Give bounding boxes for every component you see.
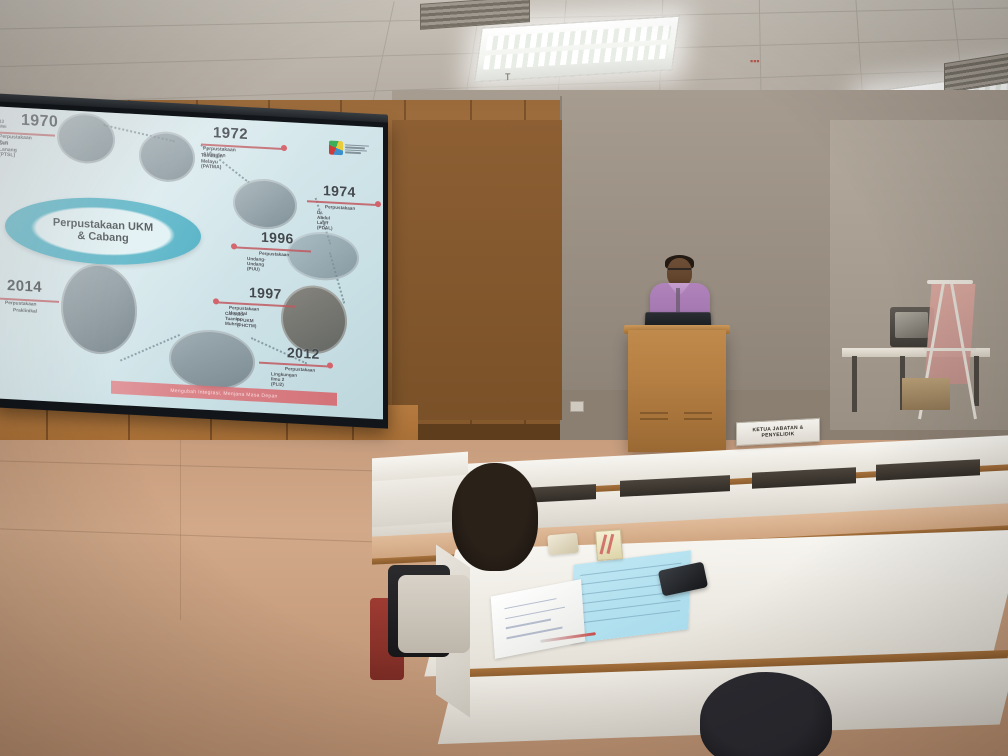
timeline-year-2014: 2014	[7, 277, 42, 296]
timeline-caption-1996-l2: Undang-Undang (PUU)	[247, 256, 266, 272]
timeline-dot	[327, 362, 333, 368]
banner-text: Mengubah Integrasi, Menjana Masa Depan	[170, 387, 277, 399]
placard-line2: PENYELIDIK	[761, 431, 794, 439]
wood-wall-right-section	[392, 120, 562, 420]
timeline-photo	[169, 328, 255, 393]
easel-crossbar	[924, 348, 976, 351]
timeline-caption-1974-l2: Dr. Abdul Latiff (PDAL)	[317, 210, 333, 231]
timeline-photo	[61, 262, 137, 356]
timeline-dot	[375, 201, 381, 207]
table-leg	[852, 356, 857, 412]
timeline-dot	[281, 145, 287, 151]
timeline-year-1970: 1970	[21, 112, 58, 132]
timeline-year-1997: 1997	[249, 284, 282, 302]
ceiling-fixture-nub: T	[505, 72, 511, 82]
lecture-hall-photo: T T ▪▪▪ Perpustakaan U	[0, 0, 1008, 756]
wall-power-outlet[interactable]	[570, 401, 584, 412]
timeline-year-1974: 1974	[323, 182, 356, 200]
timeline-year-1972: 1972	[213, 124, 248, 143]
timeline-dot	[231, 243, 237, 249]
ceiling-sensor: ▪▪▪	[750, 56, 760, 66]
presentation-slide: Perpustakaan UKM & Cabang	[0, 107, 383, 420]
timeline-photo	[287, 230, 359, 282]
slide-center-oval: Perpustakaan UKM & Cabang	[5, 193, 201, 270]
name-placard: KETUA JABATAN & PENYELIDIK	[736, 418, 820, 446]
timeline-photo	[139, 130, 195, 183]
ukm-logo-mark	[329, 140, 343, 155]
timeline-caption-1997-l3: PPUKM (PHCTM)	[237, 317, 256, 328]
easel-top-clamp	[927, 280, 973, 284]
timeline-caption-2014-l2: Praklinikal	[13, 308, 37, 315]
crt-screen	[895, 312, 928, 338]
ukm-logo	[329, 140, 369, 156]
lanyard	[676, 288, 680, 312]
timeline-caption-1972-l2: Tamadun Melayu (PATMA)	[201, 154, 223, 172]
timeline-year-2012: 2012	[287, 344, 320, 362]
center-oval-line2: & Cabang	[77, 230, 128, 245]
projection-screen[interactable]: Perpustakaan UKM & Cabang	[0, 101, 388, 428]
wrapped-snack[interactable]	[547, 533, 579, 556]
timeline-caption-1970-l2: Seri Lanang (PTSL)	[0, 142, 17, 160]
timeline-photo	[57, 112, 115, 165]
table-leg	[974, 356, 979, 406]
audience-person-head	[452, 463, 538, 571]
snack-box[interactable]	[595, 529, 623, 561]
storage-box	[902, 378, 950, 410]
timeline-photo	[233, 177, 297, 230]
timeline-caption-2012-l2: Lingkungan Ilmu 2 (PLI2)	[271, 371, 297, 388]
ukm-logo-wordmark	[345, 144, 369, 154]
timeline-year-1996: 1996	[261, 229, 294, 247]
podium	[628, 330, 726, 452]
timeline-caption-2014-l1: Perpustakaan	[5, 301, 36, 308]
glasses-icon	[668, 268, 691, 275]
blue-notepaper[interactable]	[571, 550, 691, 643]
timeline-prefix-1970: 13 Mei	[0, 119, 7, 129]
timeline-dot	[213, 298, 219, 304]
audience-person-body	[398, 575, 470, 653]
